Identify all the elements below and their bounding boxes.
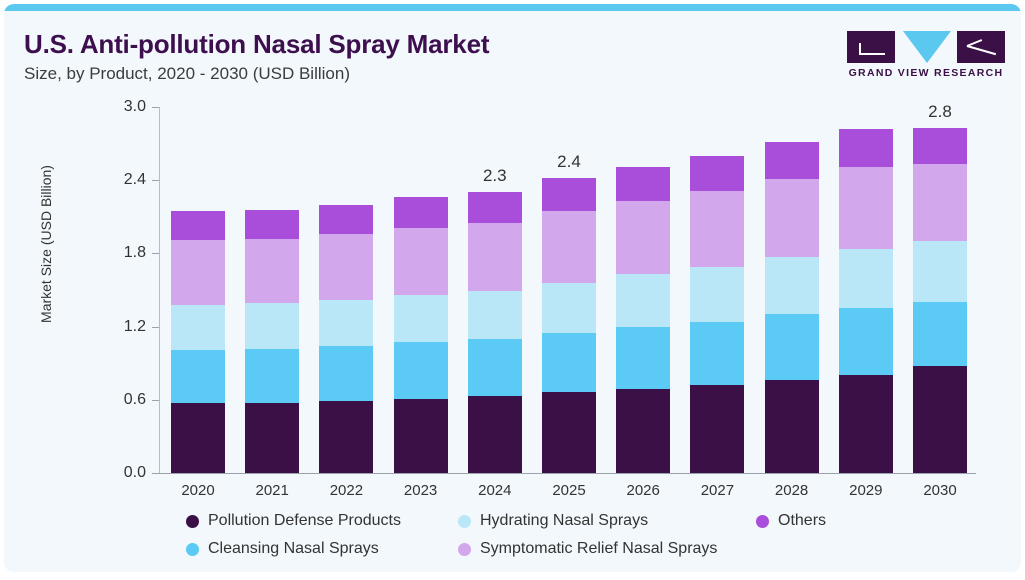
bar-segment[interactable]: [690, 191, 744, 267]
y-tick-mark: [152, 327, 159, 328]
legend-color-swatch-icon: [186, 543, 199, 556]
bar-segment[interactable]: [690, 267, 744, 322]
x-tick-label: 2020: [159, 482, 237, 499]
y-tick-label: 0.6: [100, 391, 146, 409]
bar-segment[interactable]: [913, 164, 967, 241]
x-tick-label: 2027: [678, 482, 756, 499]
x-tick-label: 2024: [456, 482, 534, 499]
bar-segment[interactable]: [913, 302, 967, 365]
bar-segment[interactable]: [839, 249, 893, 309]
bar-segment[interactable]: [468, 339, 522, 396]
bar-segment[interactable]: [319, 205, 373, 234]
y-tick-mark: [152, 400, 159, 401]
bar-segment[interactable]: [319, 300, 373, 346]
bar-segment[interactable]: [542, 211, 596, 283]
chart-plot-area: Market Size (USD Billion) 0.00.61.21.82.…: [4, 4, 1021, 572]
legend-label: Cleansing Nasal Sprays: [208, 540, 379, 558]
bar-stack[interactable]: [839, 129, 893, 473]
x-tick-label: 2025: [530, 482, 608, 499]
bar-value-label: 2.4: [530, 152, 608, 172]
bar-segment[interactable]: [616, 201, 670, 274]
bar-segment[interactable]: [245, 210, 299, 239]
bar-segment[interactable]: [839, 129, 893, 167]
bar-segment[interactable]: [839, 308, 893, 375]
bar-stack[interactable]: [542, 178, 596, 473]
chart-card: U.S. Anti-pollution Nasal Spray Market S…: [4, 4, 1021, 572]
bar-segment[interactable]: [690, 385, 744, 473]
bar-segment[interactable]: [319, 401, 373, 473]
bar-segment[interactable]: [690, 322, 744, 385]
legend-item[interactable]: Pollution Defense Products: [186, 512, 401, 530]
bar-segment[interactable]: [171, 240, 225, 305]
bar-segment[interactable]: [690, 156, 744, 191]
bar-segment[interactable]: [319, 346, 373, 401]
x-tick-label: 2029: [827, 482, 905, 499]
legend-color-swatch-icon: [756, 515, 769, 528]
legend-color-swatch-icon: [458, 515, 471, 528]
legend-label: Symptomatic Relief Nasal Sprays: [480, 540, 717, 558]
bar-stack[interactable]: [245, 210, 299, 473]
bar-segment[interactable]: [468, 223, 522, 291]
x-tick-label: 2026: [604, 482, 682, 499]
legend-color-swatch-icon: [186, 515, 199, 528]
y-tick-mark: [152, 473, 159, 474]
bar-segment[interactable]: [245, 303, 299, 348]
bar-segment[interactable]: [171, 350, 225, 404]
bar-segment[interactable]: [542, 178, 596, 211]
bar-segment[interactable]: [245, 349, 299, 404]
legend-item[interactable]: Cleansing Nasal Sprays: [186, 540, 379, 558]
y-tick-mark: [152, 180, 159, 181]
x-axis-line: [159, 473, 976, 474]
bar-segment[interactable]: [542, 333, 596, 393]
bar-segment[interactable]: [394, 295, 448, 343]
bar-segment[interactable]: [542, 392, 596, 473]
bar-stack[interactable]: [319, 205, 373, 473]
bar-segment[interactable]: [171, 211, 225, 240]
y-tick-label: 0.0: [100, 464, 146, 482]
legend-color-swatch-icon: [458, 543, 471, 556]
y-tick-label: 1.8: [100, 244, 146, 262]
bar-segment[interactable]: [171, 305, 225, 350]
bar-segment[interactable]: [765, 380, 819, 473]
bar-stack[interactable]: [171, 211, 225, 473]
y-tick-label: 2.4: [100, 171, 146, 189]
bar-value-label: 2.3: [456, 166, 534, 186]
x-tick-label: 2021: [233, 482, 311, 499]
y-axis-title: Market Size (USD Billion): [38, 94, 54, 394]
x-tick-label: 2028: [753, 482, 831, 499]
y-tick-mark: [152, 253, 159, 254]
legend-item[interactable]: Symptomatic Relief Nasal Sprays: [458, 540, 717, 558]
y-axis-line: [159, 107, 160, 473]
bar-value-label: 2.8: [901, 102, 979, 122]
bar-segment[interactable]: [913, 241, 967, 302]
bar-stack[interactable]: [616, 167, 670, 473]
legend-label: Others: [778, 512, 826, 530]
bar-segment[interactable]: [913, 366, 967, 473]
bar-segment[interactable]: [765, 257, 819, 314]
x-tick-label: 2023: [382, 482, 460, 499]
bar-segment[interactable]: [394, 197, 448, 228]
bar-stack[interactable]: [913, 128, 967, 473]
bar-segment[interactable]: [765, 314, 819, 380]
bar-segment[interactable]: [245, 403, 299, 473]
bar-segment[interactable]: [542, 283, 596, 333]
bar-segment[interactable]: [839, 375, 893, 473]
bar-segment[interactable]: [616, 327, 670, 389]
bar-stack[interactable]: [765, 142, 819, 473]
y-tick-label: 3.0: [100, 98, 146, 116]
y-tick-mark: [152, 107, 159, 108]
bar-segment[interactable]: [468, 192, 522, 223]
x-tick-label: 2022: [307, 482, 385, 499]
bar-segment[interactable]: [319, 234, 373, 300]
bar-stack[interactable]: [394, 197, 448, 473]
chart-legend: Pollution Defense ProductsCleansing Nasa…: [186, 512, 886, 568]
legend-label: Hydrating Nasal Sprays: [480, 512, 648, 530]
y-tick-label: 1.2: [100, 318, 146, 336]
bar-segment[interactable]: [171, 403, 225, 473]
bar-segment[interactable]: [913, 128, 967, 165]
bar-segment[interactable]: [394, 399, 448, 473]
bar-segment[interactable]: [765, 179, 819, 257]
bar-segment[interactable]: [394, 342, 448, 398]
bar-segment[interactable]: [468, 396, 522, 473]
legend-item[interactable]: Hydrating Nasal Sprays: [458, 512, 648, 530]
bar-segment[interactable]: [839, 167, 893, 249]
bar-segment[interactable]: [394, 228, 448, 295]
bar-stack[interactable]: [690, 156, 744, 473]
legend-item[interactable]: Others: [756, 512, 826, 530]
bar-segment[interactable]: [245, 239, 299, 304]
bar-segment[interactable]: [616, 274, 670, 326]
bar-stack[interactable]: [468, 192, 522, 473]
legend-label: Pollution Defense Products: [208, 512, 401, 530]
bar-segment[interactable]: [616, 389, 670, 473]
bar-segment[interactable]: [765, 142, 819, 179]
x-tick-label: 2030: [901, 482, 979, 499]
bar-segment[interactable]: [468, 291, 522, 339]
bar-segment[interactable]: [616, 167, 670, 201]
